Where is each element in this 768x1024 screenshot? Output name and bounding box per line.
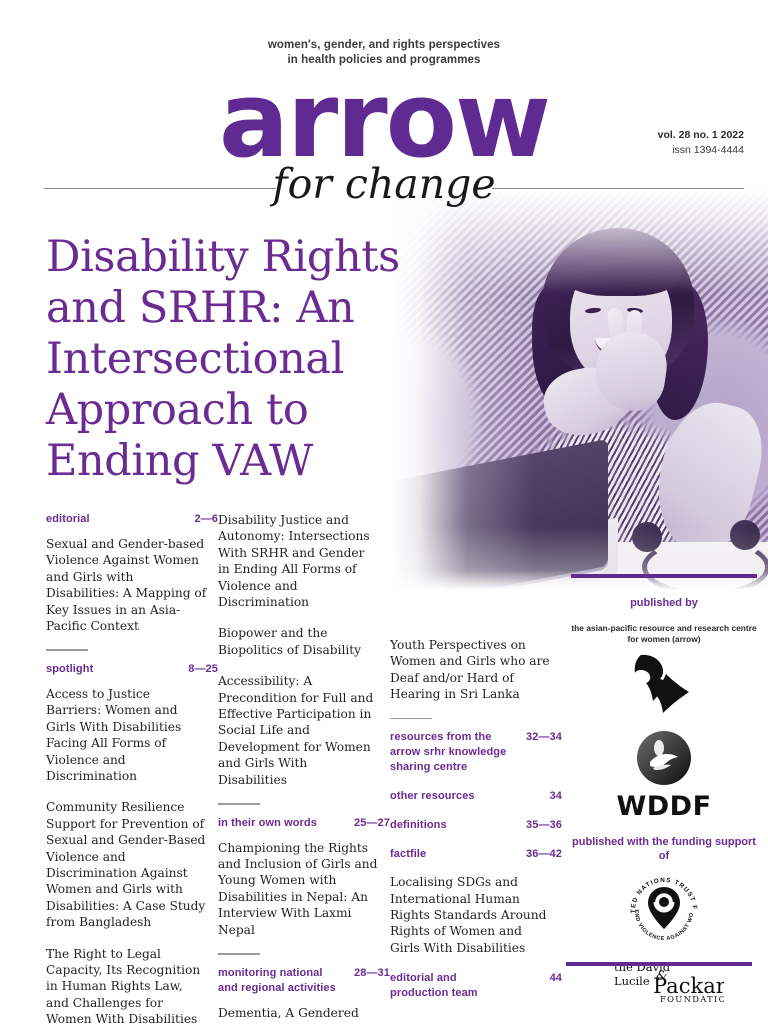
section-label: in their own words <box>218 816 317 831</box>
section-header-editorial-team[interactable]: editorial and production team 44 <box>390 971 562 1001</box>
section-pages: 28—31 <box>348 966 390 981</box>
section-header-other-resources[interactable]: other resources 34 <box>390 789 562 804</box>
toc-entry[interactable]: Access to Justice Barriers: Women and Gi… <box>46 686 208 784</box>
wddf-wordmark: WDDF <box>566 793 762 821</box>
toc-entry[interactable]: Accessibility: A Precondition for Full a… <box>218 673 380 788</box>
section-pages: 8—25 <box>182 662 218 677</box>
magazine-cover: women's, gender, and rights perspectives… <box>0 0 768 1024</box>
cover-title: Disability Rights and SRHR: An Intersect… <box>46 232 446 487</box>
section-label: factfile <box>390 847 426 862</box>
tagline: for change <box>0 158 768 210</box>
toc-column-2: Disability Justice and Autonomy: Interse… <box>218 512 390 1024</box>
wddf-logo: WDDF <box>566 730 762 821</box>
section-pages: 32—34 <box>520 730 562 745</box>
section-header-definitions[interactable]: definitions 35—36 <box>390 818 562 833</box>
toc-column-3: Youth Perspectives on Women and Girls wh… <box>390 512 562 1010</box>
section-header-resources-arrow[interactable]: resources from the arrow srhr knowledge … <box>390 730 562 775</box>
section-label: definitions <box>390 818 447 833</box>
wddf-mark-icon <box>636 730 692 786</box>
section-pages: 25—27 <box>348 816 390 831</box>
section-pages: 34 <box>544 789 562 804</box>
section-label: spotlight <box>46 662 93 677</box>
toc-entry[interactable]: Disability Justice and Autonomy: Interse… <box>218 512 380 610</box>
toc-section: spotlight 8—25 Access to Justice Barrier… <box>46 662 218 1024</box>
section-pages: 36—42 <box>520 847 562 862</box>
section-label: resources from the arrow srhr knowledge … <box>390 730 510 775</box>
toc-column-1: editorial 2—6 Sexual and Gender-based Vi… <box>46 512 218 1024</box>
toc-entry[interactable]: Championing the Rights and Inclusion of … <box>218 840 380 938</box>
toc-entry[interactable]: Localising SDGs and International Human … <box>390 874 552 956</box>
section-pages: 35—36 <box>520 818 562 833</box>
packard-foundation-text: FOUNDATION <box>660 994 724 1004</box>
rail-bottom-bar <box>566 962 752 966</box>
toc-entry[interactable]: The Right to Legal Capacity, Its Recogni… <box>46 946 208 1024</box>
divider <box>218 803 260 805</box>
volume-number: vol. 28 no. 1 2022 <box>658 128 744 143</box>
publisher-name: the asian-pacific resource and research … <box>566 623 762 644</box>
funding-support-label: published with the funding support of <box>566 835 762 863</box>
toc-entry[interactable]: Youth Perspectives on Women and Girls wh… <box>390 637 552 703</box>
arrow-logo <box>633 652 695 718</box>
published-by-label: published by <box>566 596 762 611</box>
divider <box>46 649 88 651</box>
section-header-in-their-own-words[interactable]: in their own words 25—27 <box>218 816 390 831</box>
section-header-spotlight[interactable]: spotlight 8—25 <box>46 662 218 677</box>
toc-section: editorial 2—6 Sexual and Gender-based Vi… <box>46 512 218 634</box>
rail-top-bar <box>571 574 757 578</box>
un-trust-fund-icon: UNITED NATIONS TRUST FUND TO END VIOLENC… <box>623 871 705 945</box>
toc-entry[interactable]: Biopower and the Biopolitics of Disabili… <box>218 625 380 658</box>
section-header-editorial[interactable]: editorial 2—6 <box>46 512 218 527</box>
issn: issn 1394-4444 <box>658 143 744 158</box>
section-pages: 2—6 <box>188 512 218 527</box>
toc-entry[interactable]: Community Resilience Support for Prevent… <box>46 799 208 930</box>
strapline-line-1: women's, gender, and rights perspectives <box>0 38 768 53</box>
section-label: other resources <box>390 789 475 804</box>
section-label: editorial and production team <box>390 971 510 1001</box>
toc-entry[interactable]: Dementia, A Gendered Issue that Intersec… <box>218 1005 380 1024</box>
arrow-wordmark: arrow <box>0 68 768 172</box>
publisher-rail: published by the asian-pacific resource … <box>566 574 762 1009</box>
issue-info: vol. 28 no. 1 2022 issn 1394-4444 <box>658 128 744 158</box>
section-label: monitoring national and regional activit… <box>218 966 338 996</box>
packard-line-2: Lucile <box>614 974 650 988</box>
divider <box>218 953 260 955</box>
section-header-factfile[interactable]: factfile 36—42 <box>390 847 562 862</box>
toc-entry[interactable]: Sexual and Gender-based Violence Against… <box>46 536 208 634</box>
section-label: editorial <box>46 512 90 527</box>
section-header-monitoring[interactable]: monitoring national and regional activit… <box>218 966 390 996</box>
un-trust-fund-logo: UNITED NATIONS TRUST FUND TO END VIOLENC… <box>566 871 762 950</box>
divider <box>390 718 432 720</box>
section-pages: 44 <box>544 971 562 986</box>
